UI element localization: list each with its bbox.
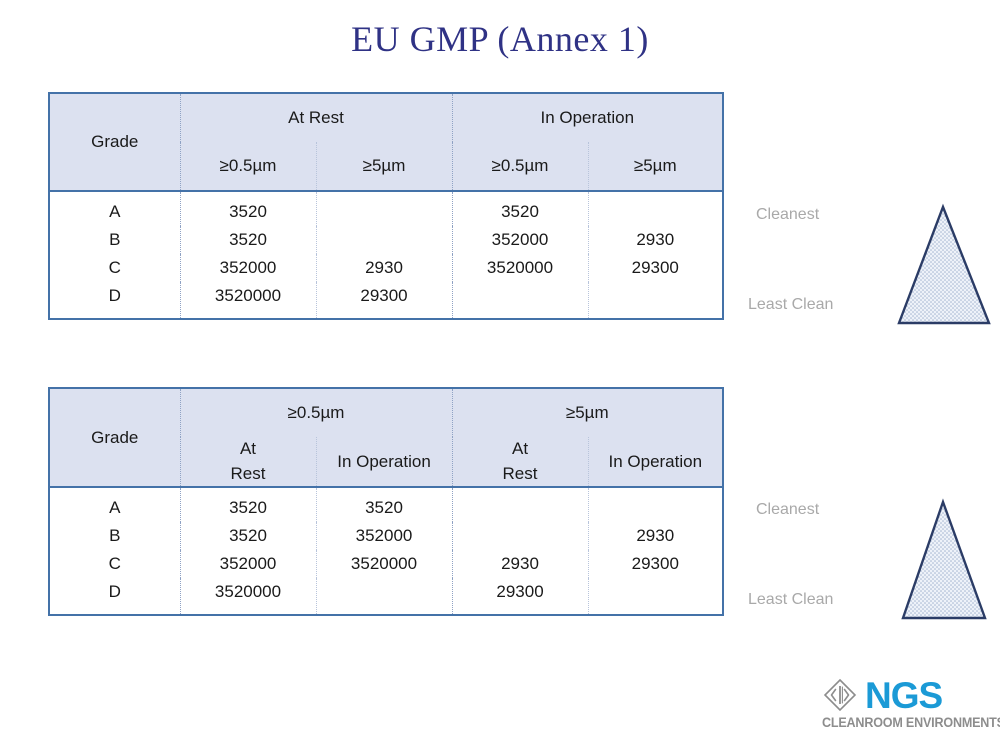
cell-value: 352000 xyxy=(180,254,316,282)
cell-value xyxy=(588,191,722,226)
cell-value xyxy=(452,282,588,318)
ngs-diamond-icon xyxy=(822,677,858,713)
table-row: C 352000 2930 3520000 29300 xyxy=(50,254,722,282)
table-row: D 3520000 29300 xyxy=(50,578,722,614)
column-header-05um-at-rest: AtRest xyxy=(180,437,316,487)
cell-value: 3520 xyxy=(452,191,588,226)
cell-value xyxy=(452,522,588,550)
cell-value: 3520 xyxy=(316,487,452,522)
cell-value: 352000 xyxy=(316,522,452,550)
table-header-group-row: Grade ≥0.5µm ≥5µm xyxy=(50,389,722,437)
cleanliness-triangle-icon xyxy=(896,490,996,622)
cell-value xyxy=(316,578,452,614)
column-header-grade: Grade xyxy=(50,94,180,191)
column-header-5um-in-operation: In Operation xyxy=(588,437,722,487)
cell-value: 3520000 xyxy=(180,282,316,318)
page-title: EU GMP (Annex 1) xyxy=(0,18,1000,60)
cell-grade: A xyxy=(50,487,180,522)
column-group-header-05um: ≥0.5µm xyxy=(180,389,452,437)
scale-label-cleanest: Cleanest xyxy=(756,501,819,519)
cell-value: 3520000 xyxy=(180,578,316,614)
table-header: Grade ≥0.5µm ≥5µm AtRest In Operation At… xyxy=(50,389,722,487)
table-body: A 3520 3520 B 3520 352000 2930 C 352000 … xyxy=(50,487,722,614)
cell-value xyxy=(452,487,588,522)
table-body: A 3520 3520 B 3520 352000 2930 C 352000 … xyxy=(50,191,722,318)
table-row: C 352000 3520000 2930 29300 xyxy=(50,550,722,578)
cell-value: 3520000 xyxy=(316,550,452,578)
cell-grade: B xyxy=(50,226,180,254)
column-group-header-at-rest: At Rest xyxy=(180,94,452,142)
cell-grade: D xyxy=(50,578,180,614)
column-header-grade: Grade xyxy=(50,389,180,487)
column-header-in-operation-05um: ≥0.5µm xyxy=(452,142,588,191)
cell-value xyxy=(588,578,722,614)
cell-grade: D xyxy=(50,282,180,318)
table-row: B 3520 352000 2930 xyxy=(50,226,722,254)
cell-value: 2930 xyxy=(452,550,588,578)
cell-value: 2930 xyxy=(588,226,722,254)
table-row: B 3520 352000 2930 xyxy=(50,522,722,550)
cell-value: 352000 xyxy=(180,550,316,578)
logo-tagline: CLEANROOM ENVIRONMENTS xyxy=(822,715,982,730)
column-header-in-operation-5um: ≥5µm xyxy=(588,142,722,191)
scale-label-least-clean: Least Clean xyxy=(748,591,833,609)
column-group-header-in-operation: In Operation xyxy=(452,94,722,142)
column-header-at-rest-05um: ≥0.5µm xyxy=(180,142,316,191)
eu-gmp-table-by-particle-size: Grade ≥0.5µm ≥5µm AtRest In Operation At… xyxy=(48,387,724,616)
ngs-logo: NGS CLEANROOM ENVIRONMENTS xyxy=(822,676,994,736)
cell-grade: C xyxy=(50,550,180,578)
scale-label-cleanest: Cleanest xyxy=(756,206,819,224)
logo-top-row: NGS xyxy=(822,676,994,714)
cell-value: 29300 xyxy=(588,254,722,282)
cell-value xyxy=(316,226,452,254)
cell-value: 3520 xyxy=(180,191,316,226)
cell-value xyxy=(588,282,722,318)
cell-grade: A xyxy=(50,191,180,226)
cell-value: 29300 xyxy=(316,282,452,318)
logo-wordmark: NGS xyxy=(865,677,942,714)
cleanliness-scale-one: Cleanest Least Clean xyxy=(748,195,996,335)
eu-gmp-table-at-rest-in-operation: Grade At Rest In Operation ≥0.5µm ≥5µm ≥… xyxy=(48,92,724,320)
column-header-at-rest-5um: ≥5µm xyxy=(316,142,452,191)
cell-value: 3520 xyxy=(180,487,316,522)
column-header-5um-at-rest: AtRest xyxy=(452,437,588,487)
cell-value: 3520 xyxy=(180,522,316,550)
table: Grade ≥0.5µm ≥5µm AtRest In Operation At… xyxy=(50,389,722,614)
cell-value: 352000 xyxy=(452,226,588,254)
table-row: A 3520 3520 xyxy=(50,191,722,226)
cell-value: 2930 xyxy=(316,254,452,282)
cell-value: 29300 xyxy=(588,550,722,578)
cell-grade: C xyxy=(50,254,180,282)
cell-value: 3520000 xyxy=(452,254,588,282)
table-header: Grade At Rest In Operation ≥0.5µm ≥5µm ≥… xyxy=(50,94,722,191)
cell-value: 29300 xyxy=(452,578,588,614)
cell-value xyxy=(316,191,452,226)
cleanliness-scale-two: Cleanest Least Clean xyxy=(748,490,996,630)
table: Grade At Rest In Operation ≥0.5µm ≥5µm ≥… xyxy=(50,94,722,318)
cell-value: 3520 xyxy=(180,226,316,254)
column-header-05um-in-operation: In Operation xyxy=(316,437,452,487)
cell-grade: B xyxy=(50,522,180,550)
cleanliness-triangle-icon xyxy=(896,195,996,327)
cell-value xyxy=(588,487,722,522)
table-row: D 3520000 29300 xyxy=(50,282,722,318)
table-header-group-row: Grade At Rest In Operation xyxy=(50,94,722,142)
column-group-header-5um: ≥5µm xyxy=(452,389,722,437)
scale-label-least-clean: Least Clean xyxy=(748,296,833,314)
cell-value: 2930 xyxy=(588,522,722,550)
table-row: A 3520 3520 xyxy=(50,487,722,522)
